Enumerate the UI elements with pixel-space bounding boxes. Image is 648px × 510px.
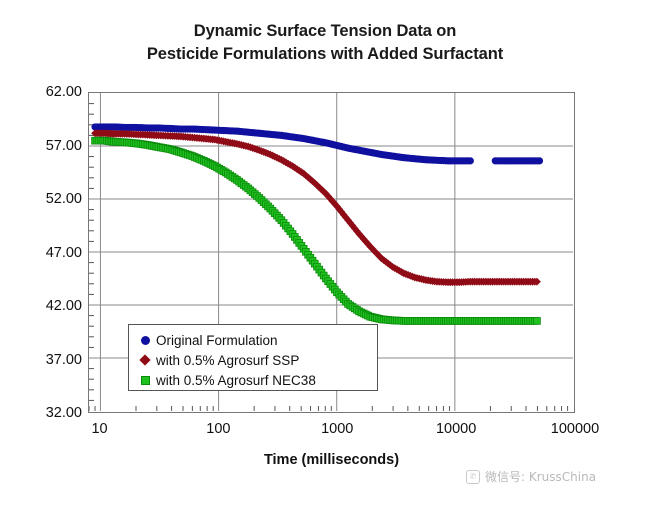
diamond-marker-icon <box>137 356 153 364</box>
circle-marker-icon <box>137 336 153 345</box>
x-axis-label: Time (milliseconds) <box>88 452 575 468</box>
x-tick-label: 100000 <box>551 421 599 437</box>
y-tick-label: 62.00 <box>4 84 82 100</box>
chart-title-line-2: Pesticide Formulations with Added Surfac… <box>60 43 590 66</box>
legend-item-original: Original Formulation <box>137 330 377 350</box>
legend-item-nec38: with 0.5% Agrosurf NEC38 <box>137 370 377 390</box>
x-tick-label: 10 <box>91 421 107 437</box>
watermark: ✆ 微信号: KrussChina <box>466 468 596 485</box>
y-tick-label: 57.00 <box>4 138 82 154</box>
y-tick-label: 47.00 <box>4 245 82 261</box>
chart-legend: Original Formulation with 0.5% Agrosurf … <box>128 324 378 391</box>
wechat-icon: ✆ <box>466 470 480 484</box>
series-square <box>92 137 541 324</box>
legend-label-original: Original Formulation <box>156 333 278 348</box>
y-tick-label: 37.00 <box>4 352 82 368</box>
x-tick-label: 10000 <box>436 421 476 437</box>
x-tick-label: 1000 <box>321 421 353 437</box>
legend-item-ssp: with 0.5% Agrosurf SSP <box>137 350 377 370</box>
x-tick-label: 100 <box>206 421 230 437</box>
watermark-text: 微信号: KrussChina <box>485 468 596 485</box>
chart-page: Dynamic Surface Tension Data on Pesticid… <box>0 0 648 510</box>
y-tick-label: 32.00 <box>4 405 82 421</box>
legend-label-ssp: with 0.5% Agrosurf SSP <box>156 353 299 368</box>
legend-label-nec38: with 0.5% Agrosurf NEC38 <box>156 373 316 388</box>
y-tick-label: 42.00 <box>4 298 82 314</box>
y-axis-tick-labels: 62.0057.0052.0047.0042.0037.0032.00 <box>0 0 82 510</box>
y-tick-label: 52.00 <box>4 191 82 207</box>
chart-title-line-1: Dynamic Surface Tension Data on <box>194 22 457 40</box>
chart-title: Dynamic Surface Tension Data on Pesticid… <box>60 20 590 67</box>
square-marker-icon <box>137 376 153 385</box>
